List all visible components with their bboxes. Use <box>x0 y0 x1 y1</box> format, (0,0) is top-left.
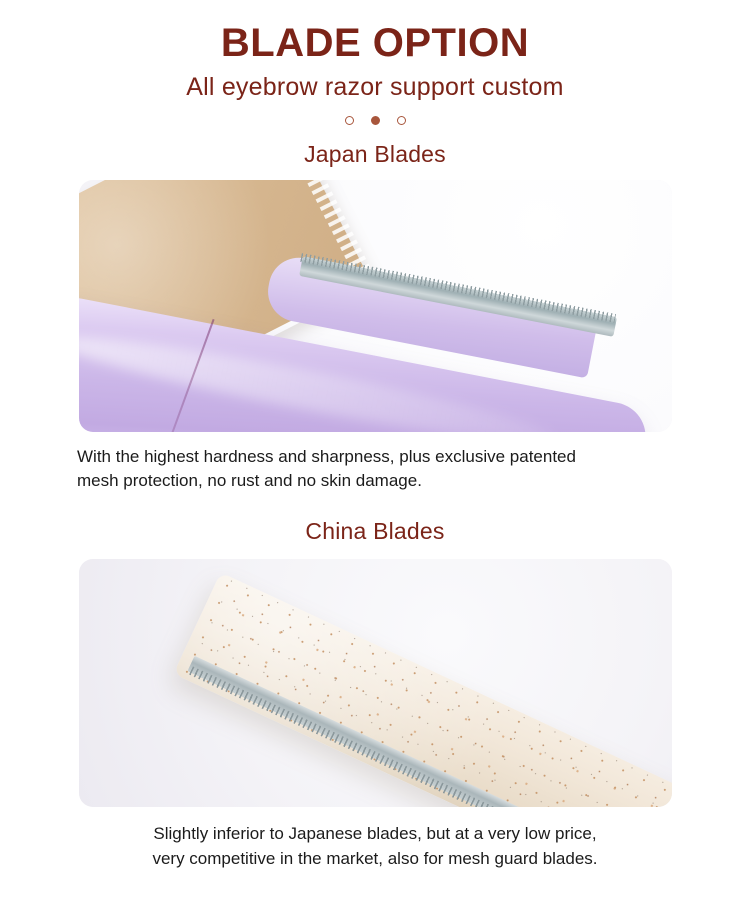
caption-line: With the highest hardness and sharpness,… <box>77 445 673 470</box>
product-detail-page: BLADE OPTION All eyebrow razor support c… <box>0 0 750 901</box>
caption-line: Slightly inferior to Japanese blades, bu… <box>77 822 673 847</box>
page-subtitle: All eyebrow razor support custom <box>0 73 750 102</box>
pagination-dot-3[interactable] <box>397 116 406 125</box>
pagination-dot-1[interactable] <box>345 116 354 125</box>
section-title-china-blades: China Blades <box>0 518 750 545</box>
product-image-japan-blades <box>79 180 672 432</box>
caption-line: very competitive in the market, also for… <box>77 847 673 872</box>
pagination-dot-2[interactable] <box>371 116 380 125</box>
section-title-japan-blades: Japan Blades <box>0 141 750 168</box>
product-image-china-blades <box>79 559 672 807</box>
caption-line: mesh protection, no rust and no skin dam… <box>77 469 673 494</box>
pagination-dots <box>0 114 750 128</box>
page-header: BLADE OPTION All eyebrow razor support c… <box>0 0 750 128</box>
page-title: BLADE OPTION <box>0 22 750 64</box>
caption-japan-blades: With the highest hardness and sharpness,… <box>77 445 673 494</box>
caption-china-blades: Slightly inferior to Japanese blades, bu… <box>77 822 673 871</box>
